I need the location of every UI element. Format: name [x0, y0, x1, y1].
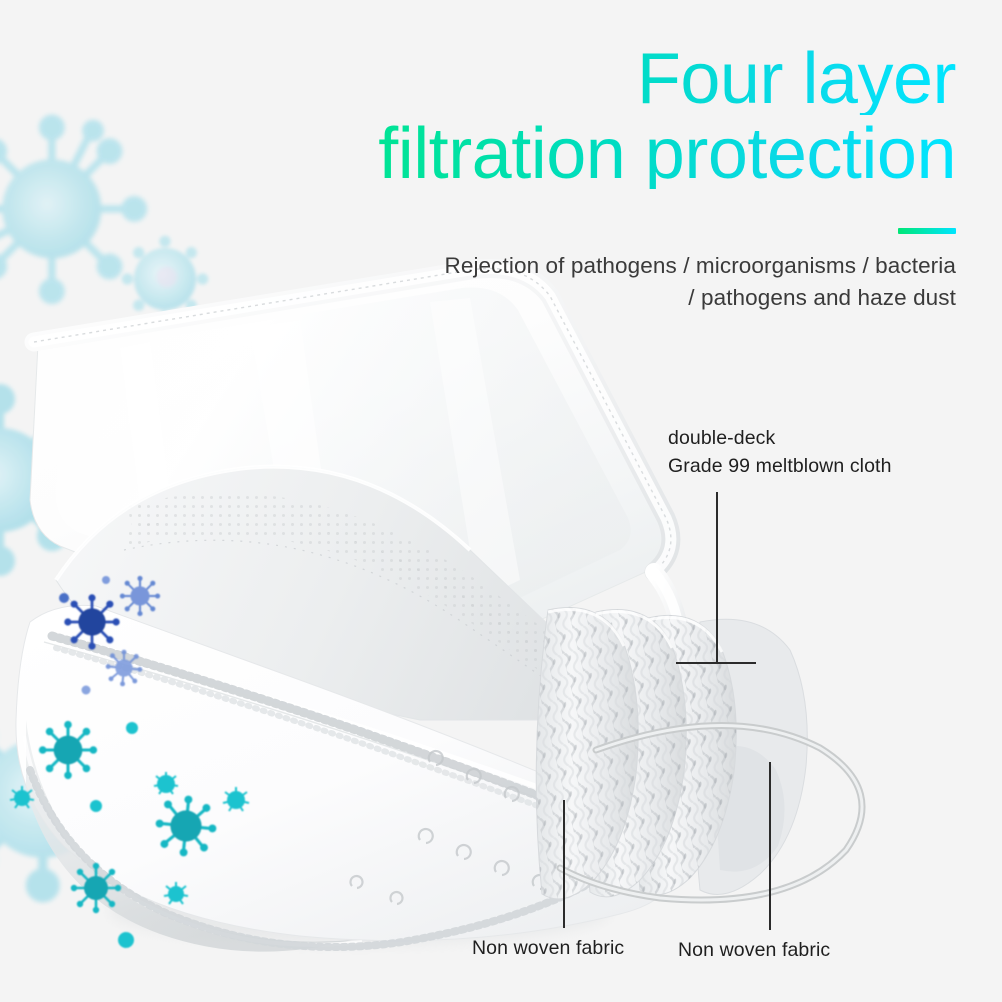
leader-line-meltblown-vertical: [716, 492, 718, 664]
callout-meltblown-line-2: Grade 99 meltblown cloth: [668, 453, 892, 481]
accent-underline: [898, 228, 956, 234]
product-infographic: Four layer filtration protection Rejecti…: [0, 0, 1002, 1002]
callout-non-woven-front: Non woven fabric: [472, 935, 624, 963]
headline-line-1: Four layer: [216, 44, 956, 115]
callout-non-woven-back-label: Non woven fabric: [678, 937, 830, 965]
subtitle-line-2: / pathogens and haze dust: [256, 282, 956, 314]
subtitle-line-1: Rejection of pathogens / microorganisms …: [256, 250, 956, 282]
callout-meltblown: double-deck Grade 99 meltblown cloth: [668, 425, 892, 480]
leader-line-nonwoven-back: [769, 762, 771, 930]
leader-line-meltblown-crossbar: [676, 662, 756, 664]
mask-product-image: [0, 250, 900, 970]
subtitle: Rejection of pathogens / microorganisms …: [256, 250, 956, 314]
callout-non-woven-back: Non woven fabric: [678, 937, 830, 965]
meltblown-layers: [536, 608, 807, 899]
leader-line-nonwoven-front: [563, 800, 565, 928]
page-title: Four layer filtration protection: [216, 44, 956, 189]
headline-line-2: filtration protection: [216, 119, 956, 190]
callout-meltblown-line-1: double-deck: [668, 425, 892, 453]
callout-non-woven-front-label: Non woven fabric: [472, 935, 624, 963]
